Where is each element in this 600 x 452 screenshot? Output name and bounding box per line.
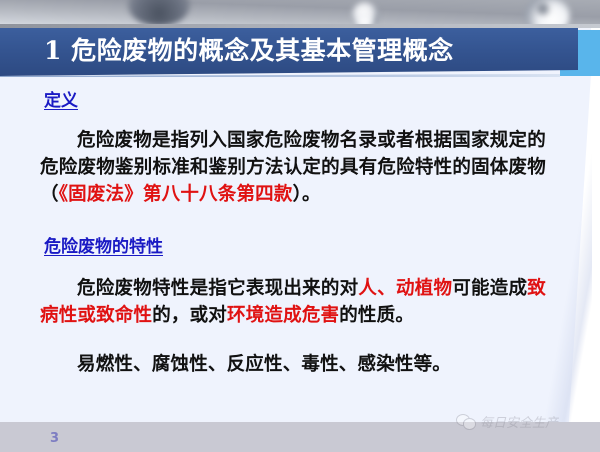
paragraph-characteristics-part-1: 人、动植物	[358, 278, 452, 299]
band-blob-shadow-icon	[536, 2, 550, 16]
section-heading-definition: 定义	[44, 86, 600, 111]
slide-canvas: 1 危险废物的概念及其基本管理概念 定义 危险废物是指列入国家危险废物名录或者根…	[0, 0, 600, 452]
paragraph-characteristics-part-2: 可能造成	[452, 278, 527, 299]
paragraph-characteristics: 危险废物特性是指它表现出来的对人、动植物可能造成致病性或致命性的，或对环境造成危…	[40, 275, 546, 329]
slide-title: 1 危险废物的概念及其基本管理概念	[44, 38, 454, 63]
band-blob-dark-icon	[128, 0, 190, 26]
paragraph-characteristic-list: 易燃性、腐蚀性、反应性、毒性、感染性等。	[40, 351, 546, 378]
paragraph-definition-part-1: 《固废法》第八十八条第四款	[59, 184, 293, 205]
band-edge-light	[0, 24, 600, 28]
paragraph-characteristics-part-5: 环境造成危害	[227, 305, 339, 326]
section-heading-characteristics: 危险废物的特性	[44, 232, 600, 257]
paragraph-characteristics-part-6: 的性质。	[339, 305, 414, 326]
paragraph-definition-part-2: ）。	[293, 184, 321, 205]
decorative-top-band	[0, 0, 600, 28]
paragraph-characteristics-part-4: 的，或对	[152, 305, 227, 326]
page-number: 3	[50, 431, 59, 446]
slide-content: 定义 危险废物是指列入国家危险废物名录或者根据国家规定的危险废物鉴别标准和鉴别方…	[0, 86, 600, 378]
footer-bar	[0, 422, 600, 452]
title-banner: 1 危险废物的概念及其基本管理概念	[0, 28, 578, 76]
paragraph-definition: 危险废物是指列入国家危险废物名录或者根据国家规定的危险废物鉴别标准和鉴别方法认定…	[40, 127, 546, 208]
paragraph-characteristics-part-0: 危险废物特性是指它表现出来的对	[77, 278, 358, 299]
